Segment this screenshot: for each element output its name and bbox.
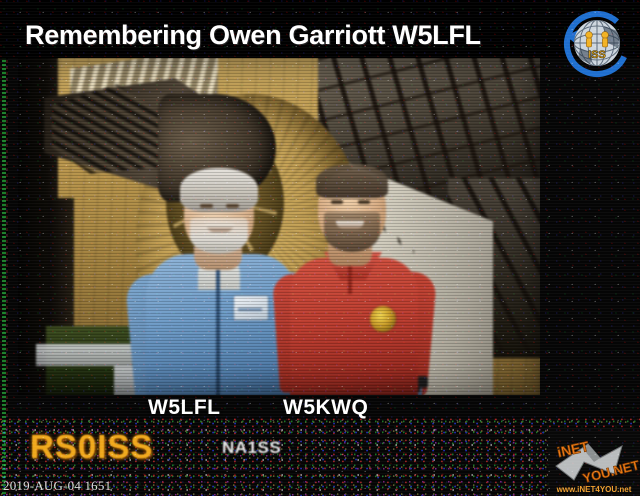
subject-left-hair	[180, 168, 258, 212]
subject-right-beard	[324, 212, 380, 252]
page-title: Remembering Owen Garriott W5LFL	[25, 20, 481, 51]
inet4you-url: www.iNET4YOU.net	[556, 485, 632, 494]
ariss-logo-icon: ISS	[560, 8, 634, 82]
sstv-photo	[18, 58, 540, 395]
ground-pavement-back	[36, 344, 132, 366]
subject-left-zipper	[216, 260, 220, 395]
subject-right-placket	[348, 264, 352, 294]
inet4you-logo-icon: iNET YOU.NET www.iNET4YOU.net	[548, 428, 640, 496]
secondary-callsign: NA1SS	[222, 438, 281, 458]
subject-right-hair	[316, 164, 388, 198]
ariss-logo-text: ISS	[588, 49, 606, 61]
subject-left-callsign-label: W5LFL	[148, 396, 220, 420]
subject-right-eye-left	[331, 200, 343, 204]
subject-right-callsign-label: W5KWQ	[283, 396, 368, 420]
subject-right-eye-right	[358, 200, 370, 204]
sstv-image-frame: Remembering Owen Garriott W5LFL	[0, 0, 640, 496]
sstv-sync-stripe-secondary	[6, 0, 8, 496]
subject-right-shirt-crest	[370, 306, 396, 332]
subject-left-badge	[234, 296, 268, 320]
header-bar: Remembering Owen Garriott W5LFL	[0, 0, 640, 58]
subject-left-eye-left	[200, 204, 213, 208]
subject-left-smile	[206, 224, 234, 232]
subject-left-eye-right	[226, 204, 239, 208]
timestamp: 2019-AUG-04 1651	[3, 478, 111, 494]
primary-callsign: RS0ISS	[30, 428, 153, 466]
subject-right-smile	[336, 221, 364, 229]
